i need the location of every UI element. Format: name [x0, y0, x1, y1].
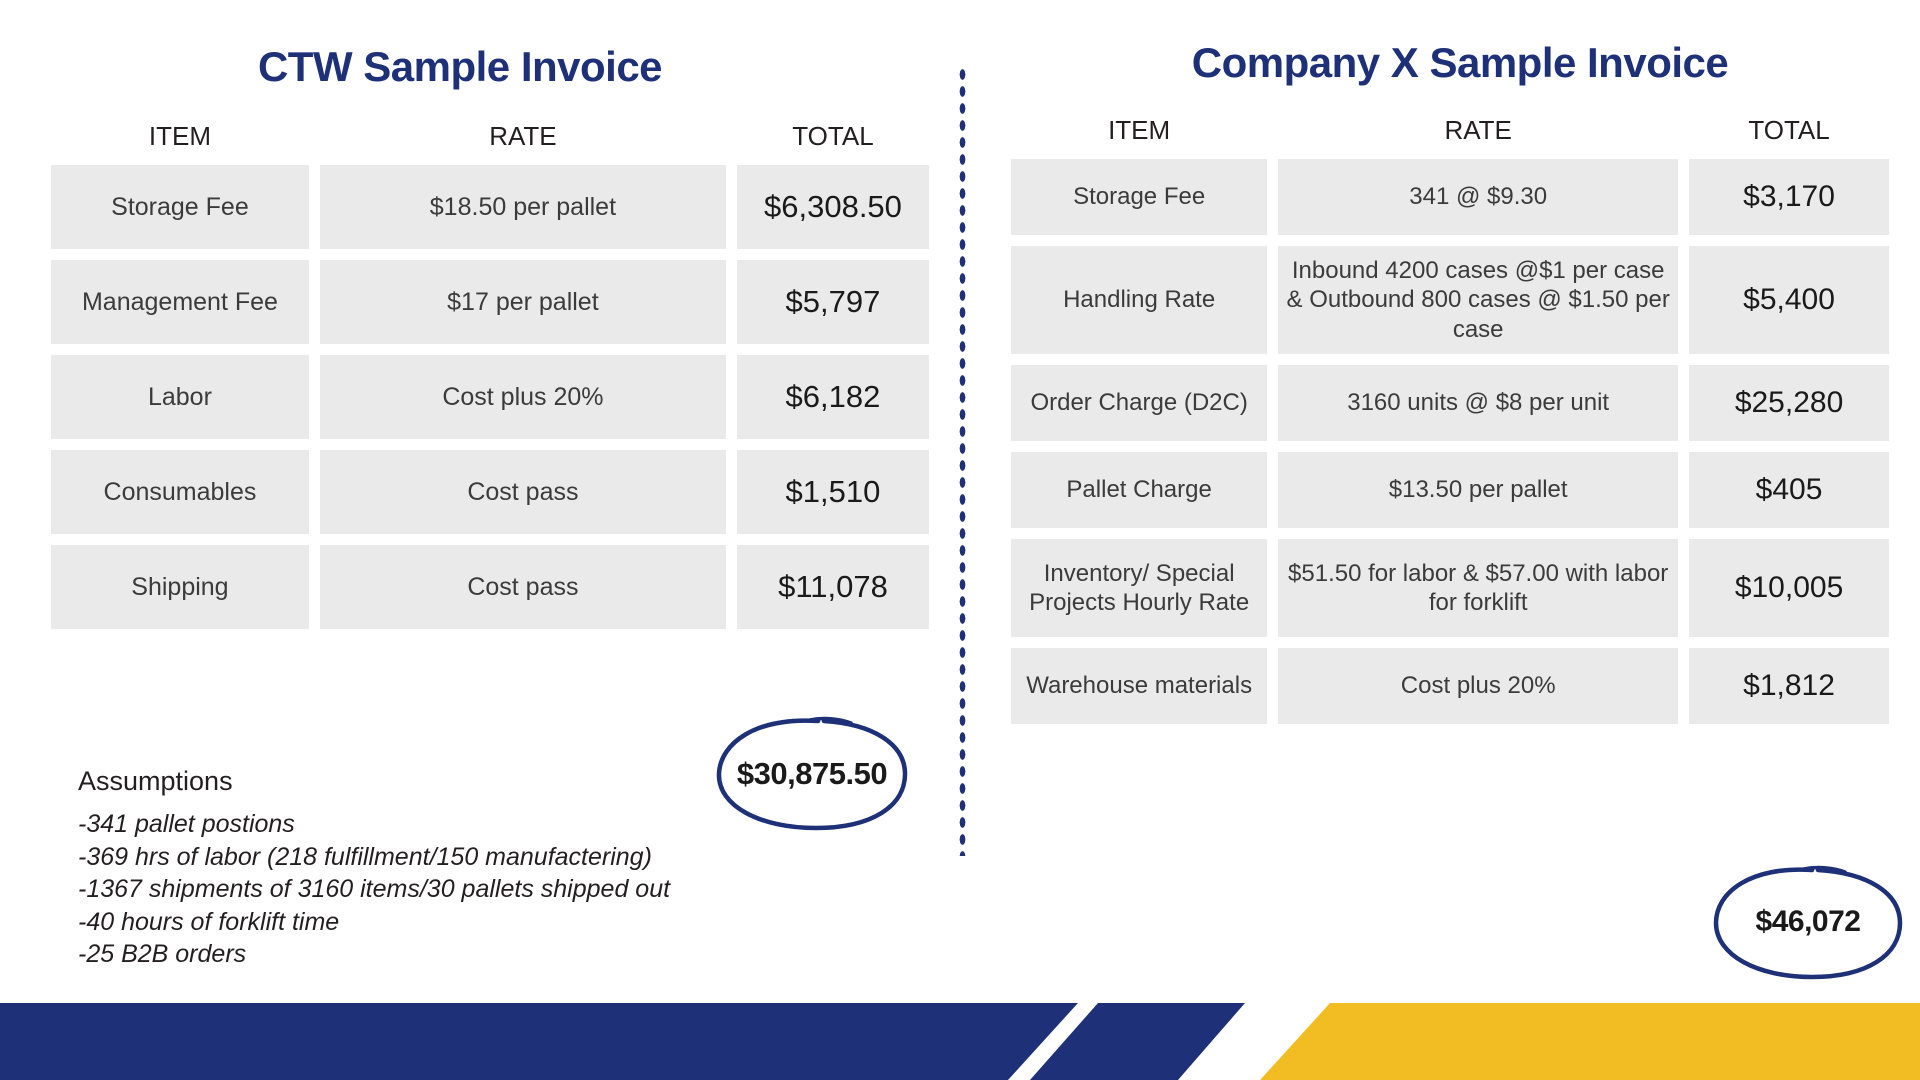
table-header-row: ITEM RATE TOTAL [51, 121, 929, 154]
cell-item: Handling Rate [1011, 246, 1267, 354]
cell-total: $5,400 [1689, 246, 1889, 354]
cell-item: Consumables [51, 450, 309, 534]
cell-rate: $13.50 per pallet [1278, 452, 1678, 528]
cell-rate: Cost pass [320, 450, 726, 534]
cell-rate: $17 per pallet [320, 260, 726, 344]
table-row: Warehouse materials Cost plus 20% $1,812 [1011, 648, 1889, 724]
table-row: Storage Fee $18.50 per pallet $6,308.50 [51, 165, 929, 249]
right-grand-total: $46,072 [1708, 862, 1908, 982]
column-header-rate: RATE [320, 121, 726, 154]
cell-item: Management Fee [51, 260, 309, 344]
left-panel-title: CTW Sample Invoice [0, 46, 940, 88]
cell-rate: Cost plus 20% [320, 355, 726, 439]
table-row: Handling Rate Inbound 4200 cases @$1 per… [1011, 246, 1889, 354]
table-row: Management Fee $17 per pallet $5,797 [51, 260, 929, 344]
cell-item: Storage Fee [1011, 159, 1267, 235]
cell-item: Storage Fee [51, 165, 309, 249]
companyx-invoice-table: ITEM RATE TOTAL Storage Fee 341 @ $9.30 … [1000, 104, 1900, 735]
cell-total: $10,005 [1689, 539, 1889, 637]
assumption-line: -40 hours of forklift time [78, 906, 798, 939]
table-row: Pallet Charge $13.50 per pallet $405 [1011, 452, 1889, 528]
assumption-line: -1367 shipments of 3160 items/30 pallets… [78, 873, 798, 906]
column-header-item: ITEM [51, 121, 309, 154]
slide-canvas: CTW Sample Invoice ITEM RATE TOTAL Stora… [0, 0, 1920, 1080]
table-row: Shipping Cost pass $11,078 [51, 545, 929, 629]
cell-item: Labor [51, 355, 309, 439]
column-header-total: TOTAL [737, 121, 929, 154]
left-grand-total: $30,875.50 [712, 714, 912, 834]
table-row: Storage Fee 341 @ $9.30 $3,170 [1011, 159, 1889, 235]
cell-total: $5,797 [737, 260, 929, 344]
table-row: Inventory/ Special Projects Hourly Rate … [1011, 539, 1889, 637]
cell-item: Inventory/ Special Projects Hourly Rate [1011, 539, 1267, 637]
cell-total: $25,280 [1689, 365, 1889, 441]
cell-rate: Inbound 4200 cases @$1 per case & Outbou… [1278, 246, 1678, 354]
right-grand-total-value: $46,072 [1756, 905, 1861, 939]
cell-total: $1,510 [737, 450, 929, 534]
left-invoice-panel: CTW Sample Invoice ITEM RATE TOTAL Stora… [40, 0, 940, 640]
ctw-invoice-table: ITEM RATE TOTAL Storage Fee $18.50 per p… [40, 110, 940, 640]
right-panel-title: Company X Sample Invoice [1020, 42, 1900, 84]
cell-total: $11,078 [737, 545, 929, 629]
assumptions-block: Assumptions -341 pallet postions -369 hr… [78, 766, 798, 971]
cell-total: $6,182 [737, 355, 929, 439]
right-invoice-panel: Company X Sample Invoice ITEM RATE TOTAL… [1000, 0, 1900, 735]
footer-yellow-shape [1260, 1003, 1920, 1080]
cell-rate: $18.50 per pallet [320, 165, 726, 249]
column-header-item: ITEM [1011, 115, 1267, 148]
assumption-line: -25 B2B orders [78, 938, 798, 971]
left-grand-total-value: $30,875.50 [737, 756, 887, 792]
cell-rate: Cost plus 20% [1278, 648, 1678, 724]
table-row: Order Charge (D2C) 3160 units @ $8 per u… [1011, 365, 1889, 441]
cell-rate: $51.50 for labor & $57.00 with labor for… [1278, 539, 1678, 637]
table-row: Consumables Cost pass $1,510 [51, 450, 929, 534]
vertical-dotted-divider [958, 66, 967, 856]
column-header-total: TOTAL [1689, 115, 1889, 148]
column-header-rate: RATE [1278, 115, 1678, 148]
cell-total: $6,308.50 [737, 165, 929, 249]
cell-item: Order Charge (D2C) [1011, 365, 1267, 441]
table-row: Labor Cost plus 20% $6,182 [51, 355, 929, 439]
footer-navy-shape [0, 1003, 1078, 1080]
cell-rate: 3160 units @ $8 per unit [1278, 365, 1678, 441]
cell-total: $3,170 [1689, 159, 1889, 235]
footer-shapes [0, 985, 1920, 1080]
cell-item: Shipping [51, 545, 309, 629]
assumption-line: -369 hrs of labor (218 fulfillment/150 m… [78, 841, 798, 874]
cell-total: $1,812 [1689, 648, 1889, 724]
footer-banner [0, 985, 1920, 1080]
assumption-line: -341 pallet postions [78, 808, 798, 841]
assumptions-title: Assumptions [78, 766, 798, 797]
cell-rate: 341 @ $9.30 [1278, 159, 1678, 235]
cell-item: Pallet Charge [1011, 452, 1267, 528]
cell-item: Warehouse materials [1011, 648, 1267, 724]
cell-total: $405 [1689, 452, 1889, 528]
table-header-row: ITEM RATE TOTAL [1011, 115, 1889, 148]
cell-rate: Cost pass [320, 545, 726, 629]
